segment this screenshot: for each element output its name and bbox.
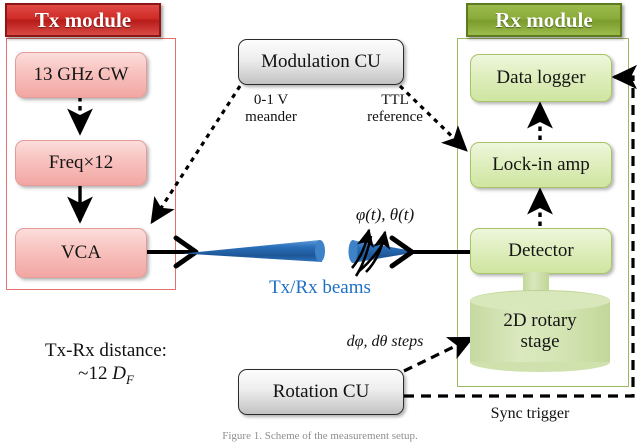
tx-module-header: Tx module [5, 3, 161, 37]
diagram-canvas: Tx module Rx module 13 GHz CW Freq×12 VC… [0, 0, 640, 445]
rx-module-header: Rx module [466, 3, 622, 37]
label-modulation-output-line1: 0-1 V [254, 92, 288, 108]
block-vca[interactable]: VCA [15, 228, 147, 278]
label-modulation-output: 0-1 V meander [228, 92, 314, 126]
curve-rotation-axis-a [358, 240, 385, 272]
arrow-theta-rotation [366, 232, 385, 272]
rx-beam-end-cap [349, 240, 358, 263]
block-lock-in-amp[interactable]: Lock-in amp [470, 142, 612, 188]
rotary-stage-label-line1: 2D rotary [503, 310, 576, 331]
label-sync-trigger: Sync trigger [460, 405, 600, 423]
distance-value: ~12 [78, 363, 112, 384]
curve-rotation-axis-b [356, 236, 371, 276]
label-ttl-reference-line1: TTL [381, 92, 409, 108]
figure-caption: Figure 1. Scheme of the measurement setu… [0, 430, 640, 442]
block-data-logger[interactable]: Data logger [470, 54, 612, 102]
label-txrx-beams: Tx/Rx beams [240, 277, 400, 298]
tx-beam-end-cap [315, 240, 325, 262]
block-freq-multiplier[interactable]: Freq×12 [15, 140, 147, 186]
label-ttl-reference: TTL reference [352, 92, 438, 126]
label-modulation-output-line2: meander [245, 109, 297, 125]
block-modulation-cu[interactable]: Modulation CU [238, 39, 404, 85]
block-2d-rotary-stage[interactable]: 2D rotary stage [470, 290, 610, 368]
arrow-phi-rotation [352, 230, 369, 268]
tx-horn-antenna [176, 238, 196, 266]
tx-beam-cone [183, 240, 322, 262]
label-tx-rx-distance: Tx-Rx distance: ~12 DF [4, 340, 208, 388]
block-13ghz-cw[interactable]: 13 GHz CW [15, 52, 147, 98]
label-rotation-angles: φ(t), θ(t) [330, 205, 440, 224]
label-ttl-reference-line2: reference [367, 109, 423, 125]
label-rotation-steps: dφ, dθ steps [320, 333, 450, 351]
rx-beam-cone [352, 240, 418, 263]
distance-symbol: D [112, 363, 126, 384]
rotary-stage-label-line2: stage [520, 331, 559, 352]
block-detector[interactable]: Detector [470, 228, 612, 274]
distance-line1: Tx-Rx distance: [4, 340, 208, 361]
rotary-stage-label: 2D rotary stage [470, 302, 610, 362]
distance-line2: ~12 DF [4, 363, 208, 387]
distance-subscript: F [126, 372, 134, 387]
rx-horn-antenna [392, 238, 412, 266]
block-rotation-cu[interactable]: Rotation CU [238, 369, 404, 415]
